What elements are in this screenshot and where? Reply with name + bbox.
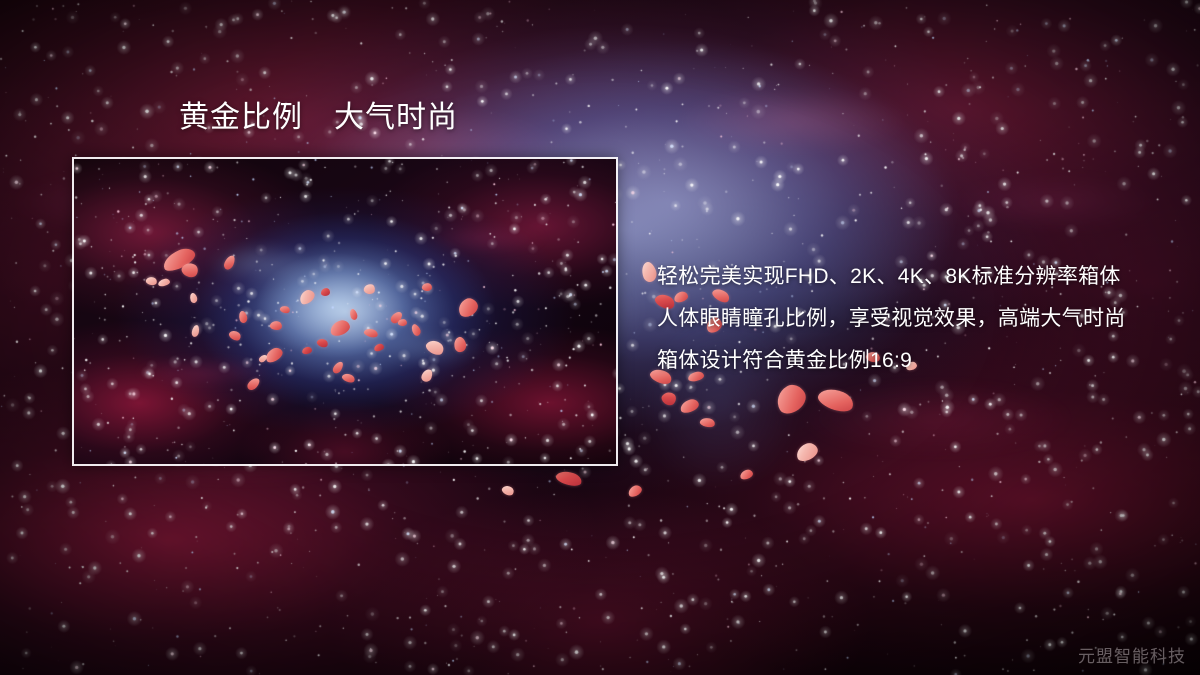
petal	[501, 484, 516, 498]
feature-line-2: 人体眼睛瞳孔比例，享受视觉效果，高端大气时尚	[657, 298, 1157, 340]
petal	[627, 484, 644, 499]
petal	[555, 468, 584, 488]
petal	[772, 380, 811, 418]
petal	[679, 397, 701, 414]
petal	[659, 389, 678, 408]
petal	[794, 440, 820, 463]
page-title: 黄金比例 大气时尚	[179, 103, 458, 133]
petal	[739, 468, 754, 480]
display-preview-frame[interactable]	[72, 157, 618, 466]
feature-line-3: 箱体设计符合黄金比例16:9	[657, 340, 1157, 382]
petal	[699, 416, 716, 428]
petal	[816, 384, 857, 416]
slide-canvas: 黄金比例 大气时尚 轻松完美实现FHD、2K、4K、8K标准分辨率箱体 人体眼睛…	[0, 0, 1200, 675]
petal	[639, 260, 659, 284]
watermark-label: 元盟智能科技	[1078, 642, 1186, 667]
display-preview-wisps	[74, 159, 616, 464]
feature-description: 轻松完美实现FHD、2K、4K、8K标准分辨率箱体 人体眼睛瞳孔比例，享受视觉效…	[657, 256, 1157, 382]
feature-line-1: 轻松完美实现FHD、2K、4K、8K标准分辨率箱体	[657, 256, 1157, 298]
